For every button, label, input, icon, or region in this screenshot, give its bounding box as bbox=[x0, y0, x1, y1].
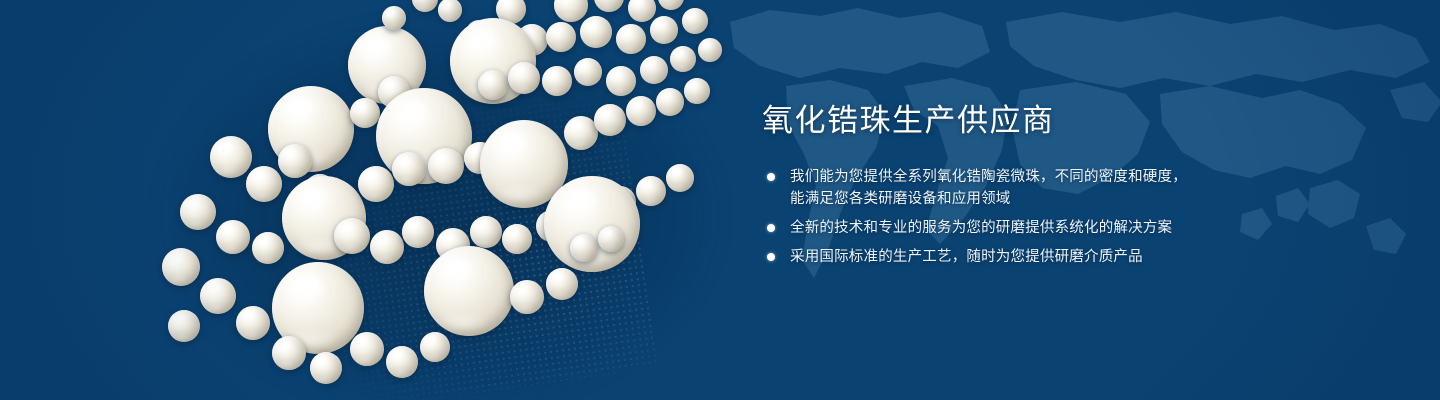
banner-feature-list: 我们能为您提供全系列氧化锆陶瓷微珠，不同的密度和硬度， 能满足您各类研磨设备和应… bbox=[762, 166, 1322, 268]
bullet-dot-icon bbox=[767, 253, 775, 261]
bullet-line: 全新的技术和专业的服务为您的研磨提供系统化的解决方案 bbox=[790, 217, 1322, 239]
bullet-dot-icon bbox=[767, 173, 775, 181]
banner-content: 氧化锆珠生产供应商 我们能为您提供全系列氧化锆陶瓷微珠，不同的密度和硬度， 能满… bbox=[762, 104, 1322, 268]
bullet-dot-icon bbox=[767, 224, 775, 232]
bullet-line: 能满足您各类研磨设备和应用领域 bbox=[790, 188, 1322, 210]
list-item: 全新的技术和专业的服务为您的研磨提供系统化的解决方案 bbox=[762, 217, 1322, 239]
list-item: 我们能为您提供全系列氧化锆陶瓷微珠，不同的密度和硬度， 能满足您各类研磨设备和应… bbox=[762, 166, 1322, 210]
bullet-line: 我们能为您提供全系列氧化锆陶瓷微珠，不同的密度和硬度， bbox=[790, 166, 1322, 188]
banner-headline: 氧化锆珠生产供应商 bbox=[762, 104, 1322, 138]
list-item: 采用国际标准的生产工艺，随时为您提供研磨介质产品 bbox=[762, 246, 1322, 268]
hero-banner: 氧化锆珠生产供应商 我们能为您提供全系列氧化锆陶瓷微珠，不同的密度和硬度， 能满… bbox=[0, 0, 1440, 400]
bullet-line: 采用国际标准的生产工艺，随时为您提供研磨介质产品 bbox=[790, 246, 1322, 268]
